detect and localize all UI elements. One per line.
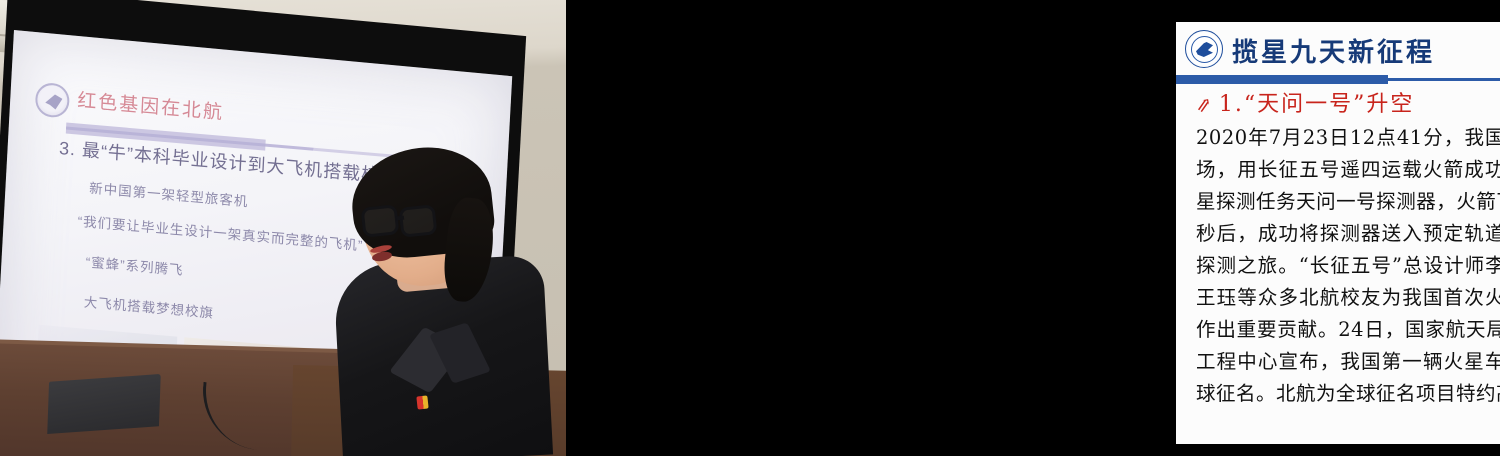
laptop <box>47 374 161 434</box>
arrow-up-right-icon: ⇗ <box>1194 93 1215 118</box>
header-divider-thin <box>1388 78 1500 81</box>
slide-title: 揽星九天新征程 <box>1232 32 1435 69</box>
section-heading: ⇗1.“天问一号”升空 <box>1196 86 1414 118</box>
projected-bullet-4: 大飞机搭载梦想校旗 <box>83 291 214 322</box>
presentation-slide: 揽星九天新征程 追寻北航青年红色基因，勇担空天报国时代使命 ⇗1.“天问一号”升… <box>1176 22 1500 444</box>
slide-header: 揽星九天新征程 追寻北航青年红色基因，勇担空天报国时代使命 <box>1176 22 1500 80</box>
projected-buaa-logo-icon <box>35 82 70 119</box>
party-badge-pin <box>416 395 428 409</box>
projected-bullet-3: “蜜蜂”系列腾飞 <box>85 251 184 279</box>
slide-body-text: 2020年7月23日12点41分，我国在文昌发射场，用长征五号遥四运载火箭成功发… <box>1196 122 1500 410</box>
projected-slide-title: 红色基因在北航 <box>77 85 225 125</box>
screenshot-root: 红色基因在北航 3. 最“牛”本科毕业设计到大飞机搭载校旗 新中国第一架轻型旅客… <box>0 0 1500 456</box>
slide-backdrop: 揽星九天新征程 追寻北航青年红色基因，勇担空天报国时代使命 ⇗1.“天问一号”升… <box>566 0 1500 456</box>
buaa-emblem-icon <box>1185 30 1223 68</box>
speaker-woman <box>318 150 548 456</box>
projected-bullet-1: 新中国第一架轻型旅客机 <box>89 177 249 211</box>
eyeglasses-right-lens <box>399 204 438 238</box>
lecture-hall-photo: 红色基因在北航 3. 最“牛”本科毕业设计到大飞机搭载校旗 新中国第一架轻型旅客… <box>0 0 566 456</box>
section-heading-text: 1.“天问一号”升空 <box>1219 92 1415 117</box>
header-divider-thick <box>1176 75 1388 84</box>
eyeglasses-left-lens <box>361 204 400 238</box>
